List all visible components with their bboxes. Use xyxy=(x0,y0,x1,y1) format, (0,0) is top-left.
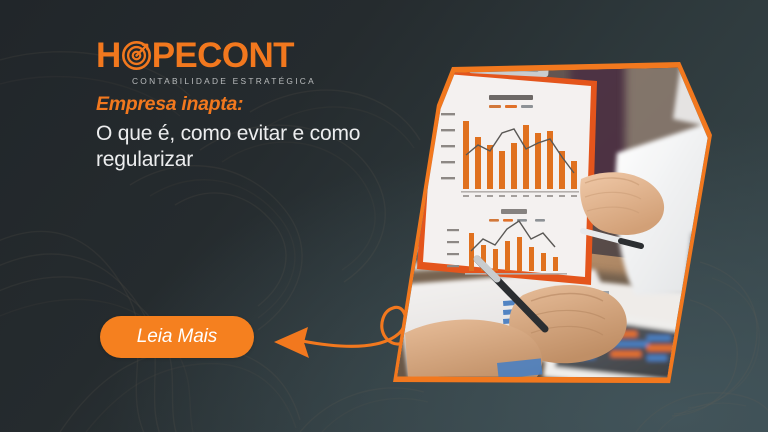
photo-frame xyxy=(385,33,720,391)
logo-tagline: CONTABILIDADE ESTRATÉGICA xyxy=(132,76,396,86)
page-title: O que é, como evitar e como regularizar xyxy=(96,121,426,174)
read-more-label: Leia Mais xyxy=(137,326,217,348)
logo-wordmark: H PECONT xyxy=(96,38,396,73)
logo-text-rest: PECONT xyxy=(152,38,294,73)
headline-kicker: Empresa inapta: xyxy=(96,93,426,116)
target-bullseye-icon xyxy=(122,41,151,70)
logo-text-first: H xyxy=(96,38,121,73)
curly-arrow-pointing-left xyxy=(262,290,407,370)
read-more-button[interactable]: Leia Mais xyxy=(100,316,254,358)
blog-banner: H PECONT CONTABILIDADE ESTRATÉGICA Empre… xyxy=(0,0,768,432)
brand-logo[interactable]: H PECONT CONTABILIDADE ESTRATÉGICA xyxy=(96,38,396,86)
headline-block: Empresa inapta: O que é, como evitar e c… xyxy=(96,93,426,174)
photo-alt-text: Business professionals reviewing printed… xyxy=(0,0,1,1)
hero-photo xyxy=(385,33,720,391)
